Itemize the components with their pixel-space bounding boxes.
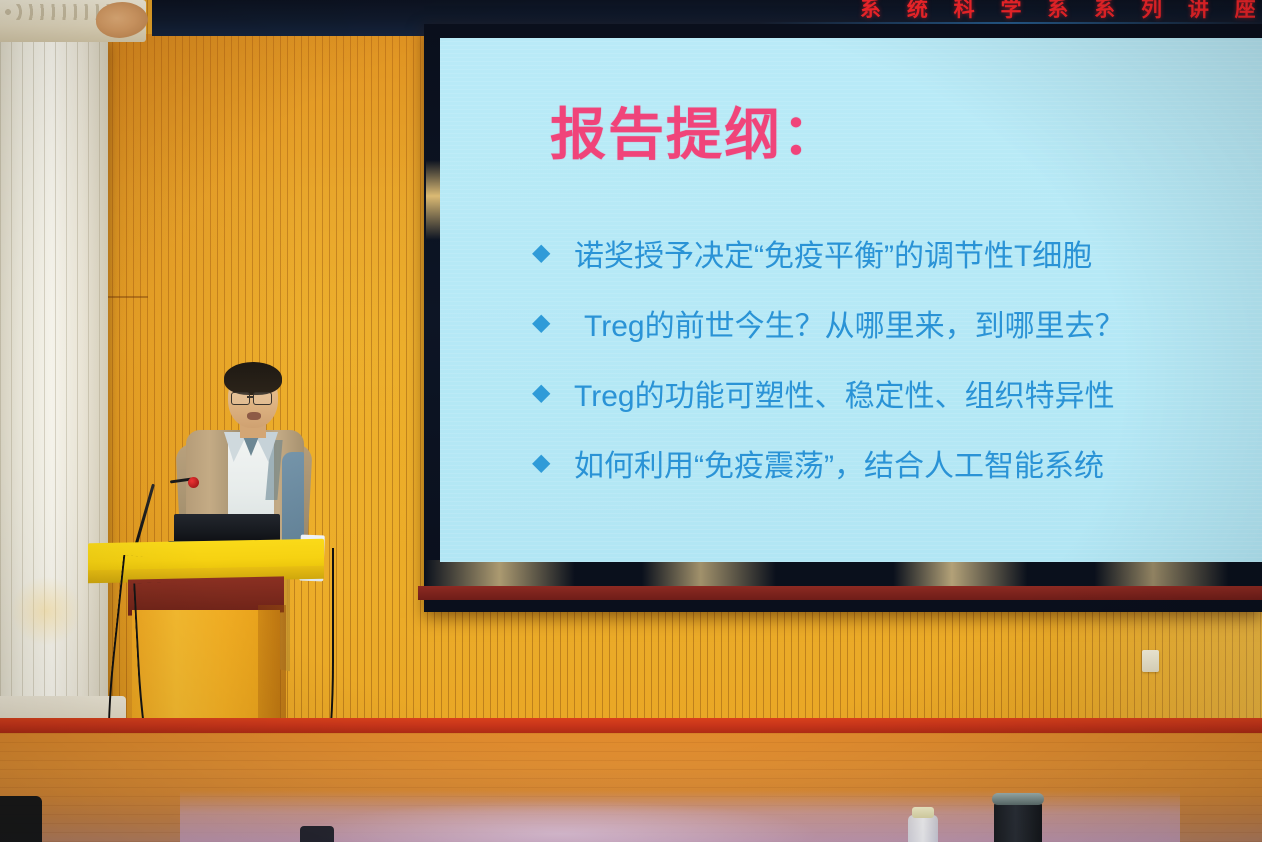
bottle-cap: [912, 807, 934, 818]
diamond-bullet-icon: ◆: [532, 451, 574, 475]
wall-panel-seam: [108, 296, 148, 298]
column-light-glint: [10, 576, 82, 646]
list-item-label: 诺奖授予决定“免疫平衡”的调节性T细胞: [574, 231, 1092, 275]
speaker-blue-drape: [282, 452, 304, 548]
projection-screen: 报告提纲： ◆ 诺奖授予决定“免疫平衡”的调节性T细胞 ◆ Treg的前世今生？…: [440, 38, 1262, 562]
list-item-label: Treg的前世今生？从哪里来，到哪里去？: [574, 301, 1125, 345]
thermos-lid: [992, 793, 1044, 805]
screen-frame-glint: [426, 160, 440, 240]
list-item: ◆ 诺奖授予决定“免疫平衡”的调节性T细胞: [532, 218, 1262, 288]
speaker-hair: [224, 362, 282, 395]
screen-frame-reflections: [424, 560, 1262, 586]
wall-outlet-plate: [1142, 650, 1159, 672]
diamond-bullet-icon: ◆: [532, 311, 574, 335]
lecture-hall-photo: 系 统 科 学 系 系 列 讲 座 报告提纲： ◆ 诺奖授予决定“免疫平衡”的调…: [0, 0, 1262, 842]
diamond-bullet-icon: ◆: [532, 381, 574, 405]
glasses-icon: [253, 392, 272, 405]
foreground-dark-object: [0, 796, 42, 842]
diamond-bullet-icon: ◆: [532, 241, 574, 265]
glasses-icon: [231, 392, 250, 405]
glasses-bridge: [247, 396, 254, 398]
microphone-icon: [188, 477, 199, 488]
baseboard-trim: [0, 718, 1262, 734]
screen-bottom-ledge: [418, 586, 1262, 600]
list-item-label: 如何利用“免疫震荡”，结合人工智能系统: [574, 441, 1104, 485]
slide-bullet-list: ◆ 诺奖授予决定“免疫平衡”的调节性T细胞 ◆ Treg的前世今生？从哪里来，到…: [532, 218, 1262, 498]
speaker-mouth: [247, 412, 261, 420]
water-bottle: [908, 815, 938, 842]
list-item-label: Treg的功能可塑性、稳定性、组织特异性: [574, 371, 1115, 415]
floor-sheen: [300, 800, 820, 842]
column-capital-volute: [96, 2, 148, 38]
thermos: [994, 800, 1042, 842]
list-item: ◆ Treg的前世今生？从哪里来，到哪里去？: [532, 288, 1262, 358]
list-item: ◆ Treg的功能可塑性、稳定性、组织特异性: [532, 358, 1262, 428]
list-item: ◆ 如何利用“免疫震荡”，结合人工智能系统: [532, 428, 1262, 498]
slide-title: 报告提纲：: [550, 90, 840, 171]
podium-foot-shadow: [300, 826, 334, 842]
venue-banner-title: 系 统 科 学 系 系 列 讲 座: [860, 0, 1262, 23]
classical-column: [0, 36, 108, 742]
